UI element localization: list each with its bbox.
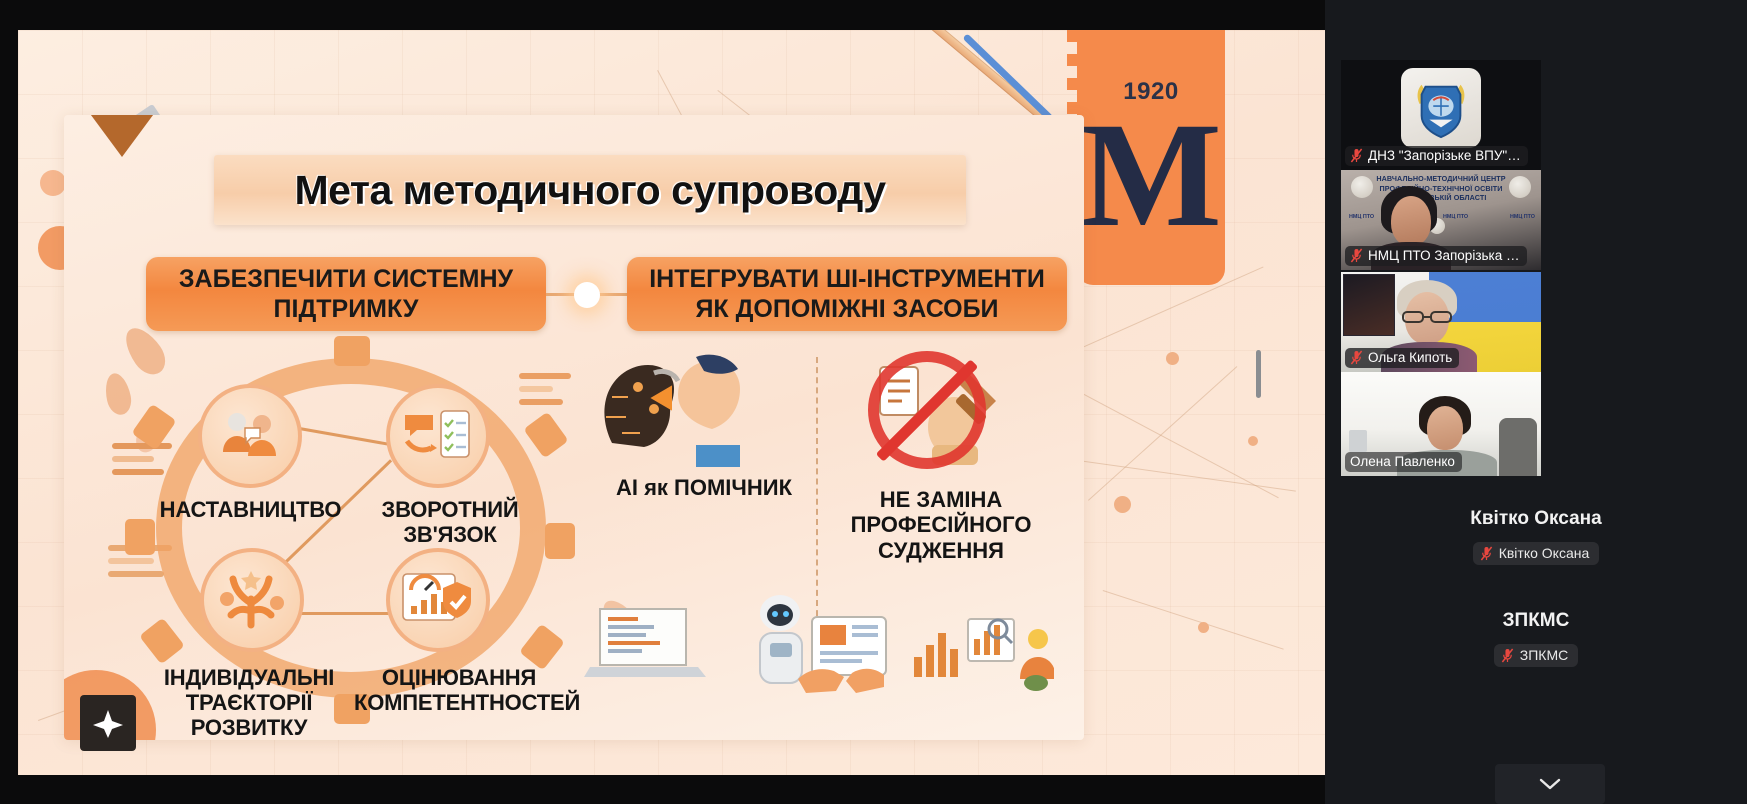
assessment-icon-svg <box>399 568 477 632</box>
feedback-icon-svg <box>401 405 475 467</box>
chair <box>1499 418 1537 476</box>
gear-label-pathways: ІНДИВІДУАЛЬНІ ТРАЄКТОРІЇ РОЗВИТКУ <box>134 666 364 740</box>
mic-muted-icon <box>1501 648 1514 663</box>
ai-section: AI як ПОМІЧНИК <box>584 347 1054 727</box>
participant-name-chip: Ольга Кипоть <box>1345 348 1459 368</box>
wall-poster <box>1343 274 1395 336</box>
ai-label-helper: AI як ПОМІЧНИК <box>614 475 794 500</box>
pathways-icon-svg <box>215 569 289 631</box>
deco-dot <box>1198 622 1209 633</box>
mic-muted-icon <box>1480 546 1493 561</box>
participant-name-chip: НМЦ ПТО Запорізька … <box>1345 246 1527 266</box>
participant-tile-active[interactable]: Олена Павленко <box>1341 372 1541 476</box>
org-watermark: НМЦ ПТО <box>1510 214 1535 220</box>
presentation-slide[interactable]: 1920 M <box>18 30 1325 775</box>
gear-tooth <box>334 336 370 366</box>
gear-label-feedback: ЗВОРОТНИЙ ЗВ'ЯЗОК <box>350 498 550 548</box>
audio-participant-name: ЗПКМС <box>1325 610 1747 632</box>
participant-name: Ольга Кипоть <box>1368 350 1452 365</box>
pill-connector-dot <box>574 282 600 308</box>
goal-pill-support-label: ЗАБЕЗПЕЧИТИ СИСТЕМНУ ПІДТРИМКУ <box>162 264 530 324</box>
audio-participant[interactable]: Квітко Оксана Квітко Оксана <box>1325 508 1747 566</box>
goal-pill-ai-tools: ІНТЕГРУВАТИ ШІ-ІНСТРУМЕНТИ ЯК ДОПОМІЖНІ … <box>627 257 1067 331</box>
annotation-pointer-button[interactable] <box>80 695 136 751</box>
show-more-participants-button[interactable] <box>1495 764 1605 804</box>
feedback-icon <box>386 384 490 488</box>
ai-head-icon <box>592 347 807 467</box>
participant-name: НМЦ ПТО Запорізька … <box>1368 248 1520 263</box>
org-logo-icon <box>1351 176 1373 198</box>
slide-card: Мета методичного супроводу ЗАБЕЗПЕЧИТИ С… <box>64 115 1084 740</box>
org-logo-icon <box>1509 176 1531 198</box>
ai-label-no-replacement: НЕ ЗАМІНА ПРОФЕСІЙНОГО СУДЖЕННЯ <box>836 487 1046 563</box>
corner-triangle-deco <box>88 115 156 157</box>
blob-deco <box>40 170 66 196</box>
page-title: Мета методичного супроводу <box>294 167 885 214</box>
institution-logo-badge: 1920 M <box>1077 30 1225 285</box>
audio-participant-name: Квітко Оксана <box>1325 508 1747 530</box>
shared-screen-stage[interactable]: 1920 M <box>0 0 1325 804</box>
deco-dot <box>1166 352 1179 365</box>
gear-tooth <box>139 618 185 665</box>
mentoring-icon-svg <box>215 406 285 466</box>
school-crest-icon <box>1410 77 1472 139</box>
assessment-icon <box>386 548 490 652</box>
audio-participant[interactable]: ЗПКМС ЗПКМС <box>1325 610 1747 668</box>
org-watermark: НМЦ ПТО <box>1443 214 1468 220</box>
ai-bottom-illustration <box>584 583 1054 703</box>
meeting-window: 1920 M <box>0 0 1747 804</box>
mic-muted-icon <box>1350 350 1363 365</box>
gear-diagram: НАСТАВНИЦТВО <box>128 350 568 720</box>
participant-name: ДНЗ "Запорізьке ВПУ"… <box>1368 148 1521 163</box>
slide-title-plaque: Мета методичного супроводу <box>214 155 966 225</box>
mentoring-icon <box>198 384 302 488</box>
audio-participant-chip-label: Квітко Оксана <box>1499 545 1590 561</box>
panel-resize-handle[interactable] <box>1256 350 1261 398</box>
participant-tile[interactable]: ДНЗ "Запорізьке ВПУ"… <box>1341 60 1541 170</box>
mic-muted-icon <box>1350 248 1363 263</box>
logo-letter: M <box>1077 100 1225 250</box>
glasses-icon <box>1402 310 1452 324</box>
audio-participant-chip: ЗПКМС <box>1494 644 1578 667</box>
gear-label-assessment: ОЦІНЮВАННЯ КОМПЕТЕНТНОСТЕЙ <box>354 666 564 716</box>
gear-tooth <box>131 404 176 451</box>
deco-dot <box>1248 436 1258 446</box>
mic-muted-icon <box>1350 148 1363 163</box>
participant-name: Олена Павленко <box>1350 454 1455 469</box>
participants-panel: ДНЗ "Запорізьке ВПУ"… НАВЧАЛЬНО-МЕТОДИЧН… <box>1325 0 1747 804</box>
gear-tooth <box>523 412 568 459</box>
participant-tile[interactable]: Ольга Кипоть <box>1341 272 1541 372</box>
org-watermark: НМЦ ПТО <box>1349 214 1374 220</box>
compass-icon <box>93 708 123 738</box>
pathways-icon <box>200 548 304 652</box>
deco-dot <box>1114 496 1131 513</box>
goal-pill-ai-tools-label: ІНТЕГРУВАТИ ШІ-ІНСТРУМЕНТИ ЯК ДОПОМІЖНІ … <box>643 264 1051 324</box>
chevron-down-icon <box>1539 778 1561 790</box>
gear-tooth <box>125 519 155 555</box>
gear-label-mentoring: НАСТАВНИЦТВО <box>148 498 353 523</box>
gear-tooth <box>519 624 565 671</box>
goal-pill-support: ЗАБЕЗПЕЧИТИ СИСТЕМНУ ПІДТРИМКУ <box>146 257 546 331</box>
audio-participant-chip-label: ЗПКМС <box>1520 647 1568 663</box>
participant-name-chip: ДНЗ "Запорізьке ВПУ"… <box>1345 146 1528 166</box>
participant-tile[interactable]: НАВЧАЛЬНО-МЕТОДИЧНИЙ ЦЕНТРПРОФЕСІЙНО-ТЕХ… <box>1341 170 1541 270</box>
avatar <box>1401 68 1481 148</box>
no-robot-judge-icon <box>846 351 1016 481</box>
audio-participant-chip: Квітко Оксана <box>1473 542 1600 565</box>
participant-name-chip: Олена Павленко <box>1345 452 1462 472</box>
